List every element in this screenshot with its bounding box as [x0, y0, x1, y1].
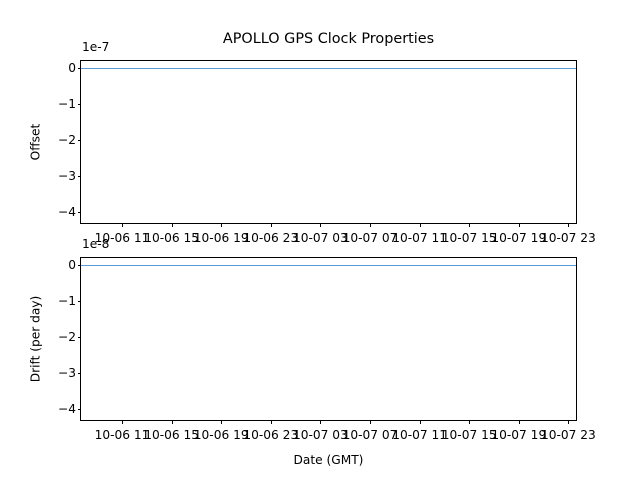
x-tick-label: 10-07 15: [442, 231, 497, 245]
y-tick-label: −1: [58, 294, 76, 308]
x-tick-mark: [420, 420, 421, 424]
x-tick-mark: [469, 420, 470, 424]
x-tick-mark: [172, 223, 173, 227]
y-tick-mark: [78, 68, 82, 69]
x-axis-label: Date (GMT): [294, 453, 364, 468]
x-tick-mark: [320, 420, 321, 424]
y-tick-mark: [78, 140, 82, 141]
drift-y-exponent-label: 1e-8: [82, 237, 109, 251]
x-tick-label: 10-06 19: [194, 231, 249, 245]
y-tick-label: −4: [58, 402, 76, 416]
x-tick-label: 10-07 11: [392, 428, 447, 442]
x-tick-mark: [568, 223, 569, 227]
x-tick-label: 10-07 19: [491, 428, 546, 442]
x-tick-label: 10-07 19: [491, 231, 546, 245]
y-tick-label: −4: [58, 205, 76, 219]
offset-y-axis-label: Offset: [28, 124, 42, 161]
y-tick-mark: [78, 265, 82, 266]
x-tick-mark: [122, 223, 123, 227]
y-tick-mark: [78, 176, 82, 177]
x-tick-label: 10-07 11: [392, 231, 447, 245]
drift-data-line: [81, 265, 576, 266]
x-tick-label: 10-07 03: [293, 231, 348, 245]
x-tick-mark: [221, 420, 222, 424]
y-tick-mark: [78, 373, 82, 374]
chart-title: APOLLO GPS Clock Properties: [80, 31, 577, 48]
x-tick-label: 10-06 23: [243, 231, 298, 245]
x-tick-label: 10-07 07: [343, 428, 398, 442]
y-tick-label: −1: [58, 97, 76, 111]
y-tick-mark: [78, 212, 82, 213]
y-tick-label: −2: [58, 133, 76, 147]
y-tick-mark: [78, 104, 82, 105]
y-tick-label: −3: [58, 169, 76, 183]
x-tick-label: 10-07 15: [442, 428, 497, 442]
x-tick-mark: [370, 223, 371, 227]
x-tick-label: 10-06 19: [194, 428, 249, 442]
y-tick-mark: [78, 337, 82, 338]
y-tick-label: 0: [68, 61, 76, 75]
x-tick-label: 10-07 07: [343, 231, 398, 245]
x-tick-mark: [568, 420, 569, 424]
y-tick-label: −2: [58, 330, 76, 344]
offset-data-line: [81, 68, 576, 69]
x-tick-label: 10-06 11: [95, 428, 150, 442]
offset-subplot-axes: 0−1−2−3−4 10-06 1110-06 1510-06 1910-06 …: [80, 60, 577, 224]
y-tick-label: 0: [68, 258, 76, 272]
x-tick-mark: [122, 420, 123, 424]
y-tick-label: −3: [58, 366, 76, 380]
x-tick-mark: [519, 420, 520, 424]
x-tick-label: 10-06 23: [243, 428, 298, 442]
y-tick-mark: [78, 409, 82, 410]
x-tick-mark: [271, 223, 272, 227]
x-tick-mark: [370, 420, 371, 424]
x-tick-mark: [271, 420, 272, 424]
x-tick-mark: [172, 420, 173, 424]
x-tick-label: 10-06 15: [144, 428, 199, 442]
x-tick-mark: [519, 223, 520, 227]
x-tick-mark: [469, 223, 470, 227]
drift-subplot-axes: 0−1−2−3−4 10-06 1110-06 1510-06 1910-06 …: [80, 257, 577, 421]
x-tick-label: 10-06 15: [144, 231, 199, 245]
x-tick-mark: [420, 223, 421, 227]
drift-y-axis-label: Drift (per day): [28, 296, 42, 383]
offset-y-exponent-label: 1e-7: [82, 40, 109, 54]
matplotlib-figure: APOLLO GPS Clock Properties 0−1−2−3−4 10…: [0, 0, 640, 480]
y-tick-mark: [78, 301, 82, 302]
x-tick-mark: [320, 223, 321, 227]
x-tick-label: 10-07 23: [541, 428, 596, 442]
x-tick-label: 10-07 23: [541, 231, 596, 245]
x-tick-label: 10-07 03: [293, 428, 348, 442]
x-tick-mark: [221, 223, 222, 227]
